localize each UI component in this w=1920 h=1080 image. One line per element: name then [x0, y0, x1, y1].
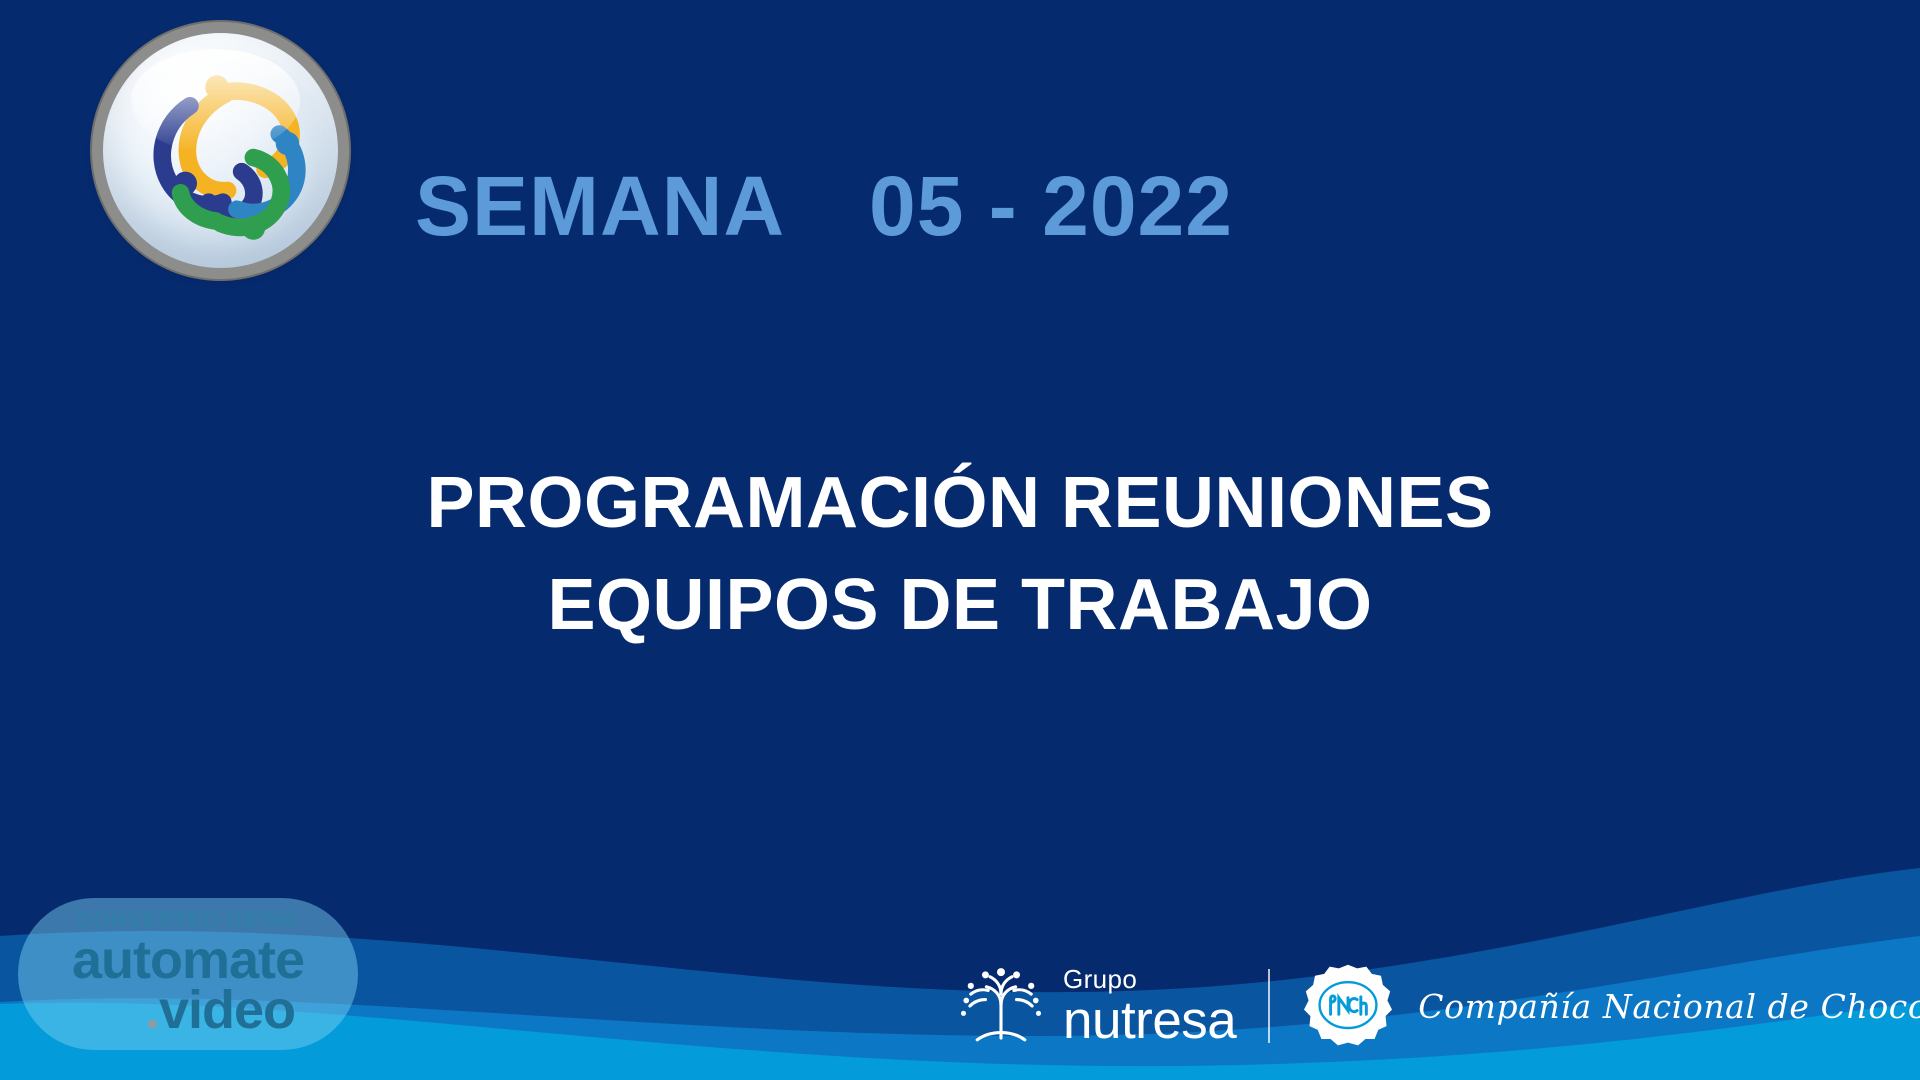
- chocolates-logo: Compañía Nacional de Chocolates: [1302, 962, 1920, 1050]
- teamwork-swirl-emblem: [103, 33, 338, 268]
- brand-divider: [1268, 969, 1270, 1043]
- automate-video-watermark: CONVERTED USING automate .video: [18, 898, 358, 1050]
- nutresa-wordmark: Grupo nutresa: [1063, 966, 1236, 1047]
- chocolates-name: Compañía Nacional de Chocolates: [1418, 987, 1920, 1026]
- page-title: PROGRAMACIÓN REUNIONES EQUIPOS DE TRABAJ…: [0, 452, 1920, 656]
- watermark-domain: .video: [18, 983, 358, 1037]
- cnch-seal-icon: [1302, 962, 1394, 1050]
- nutresa-group-label: Grupo: [1063, 966, 1236, 992]
- semana-label: SEMANA: [415, 158, 785, 255]
- grupo-nutresa-logo: Grupo nutresa: [955, 963, 1236, 1049]
- swirl-figures-icon: [103, 33, 338, 268]
- week-header: SEMANA 05 - 2022: [415, 158, 1233, 255]
- title-line-2: EQUIPOS DE TRABAJO: [0, 554, 1920, 656]
- tree-of-people-icon: [955, 963, 1047, 1049]
- title-line-1: PROGRAMACIÓN REUNIONES: [0, 452, 1920, 554]
- watermark-dot: .: [145, 980, 159, 1040]
- nutresa-name: nutresa: [1063, 994, 1236, 1047]
- week-number-year: 05 - 2022: [869, 158, 1233, 255]
- presentation-slide: SEMANA 05 - 2022 PROGRAMACIÓN REUNIONES …: [0, 0, 1920, 1080]
- watermark-domain-text: video: [159, 980, 295, 1040]
- brand-bar: Grupo nutresa Compañía Nacional de Choco…: [955, 952, 1920, 1060]
